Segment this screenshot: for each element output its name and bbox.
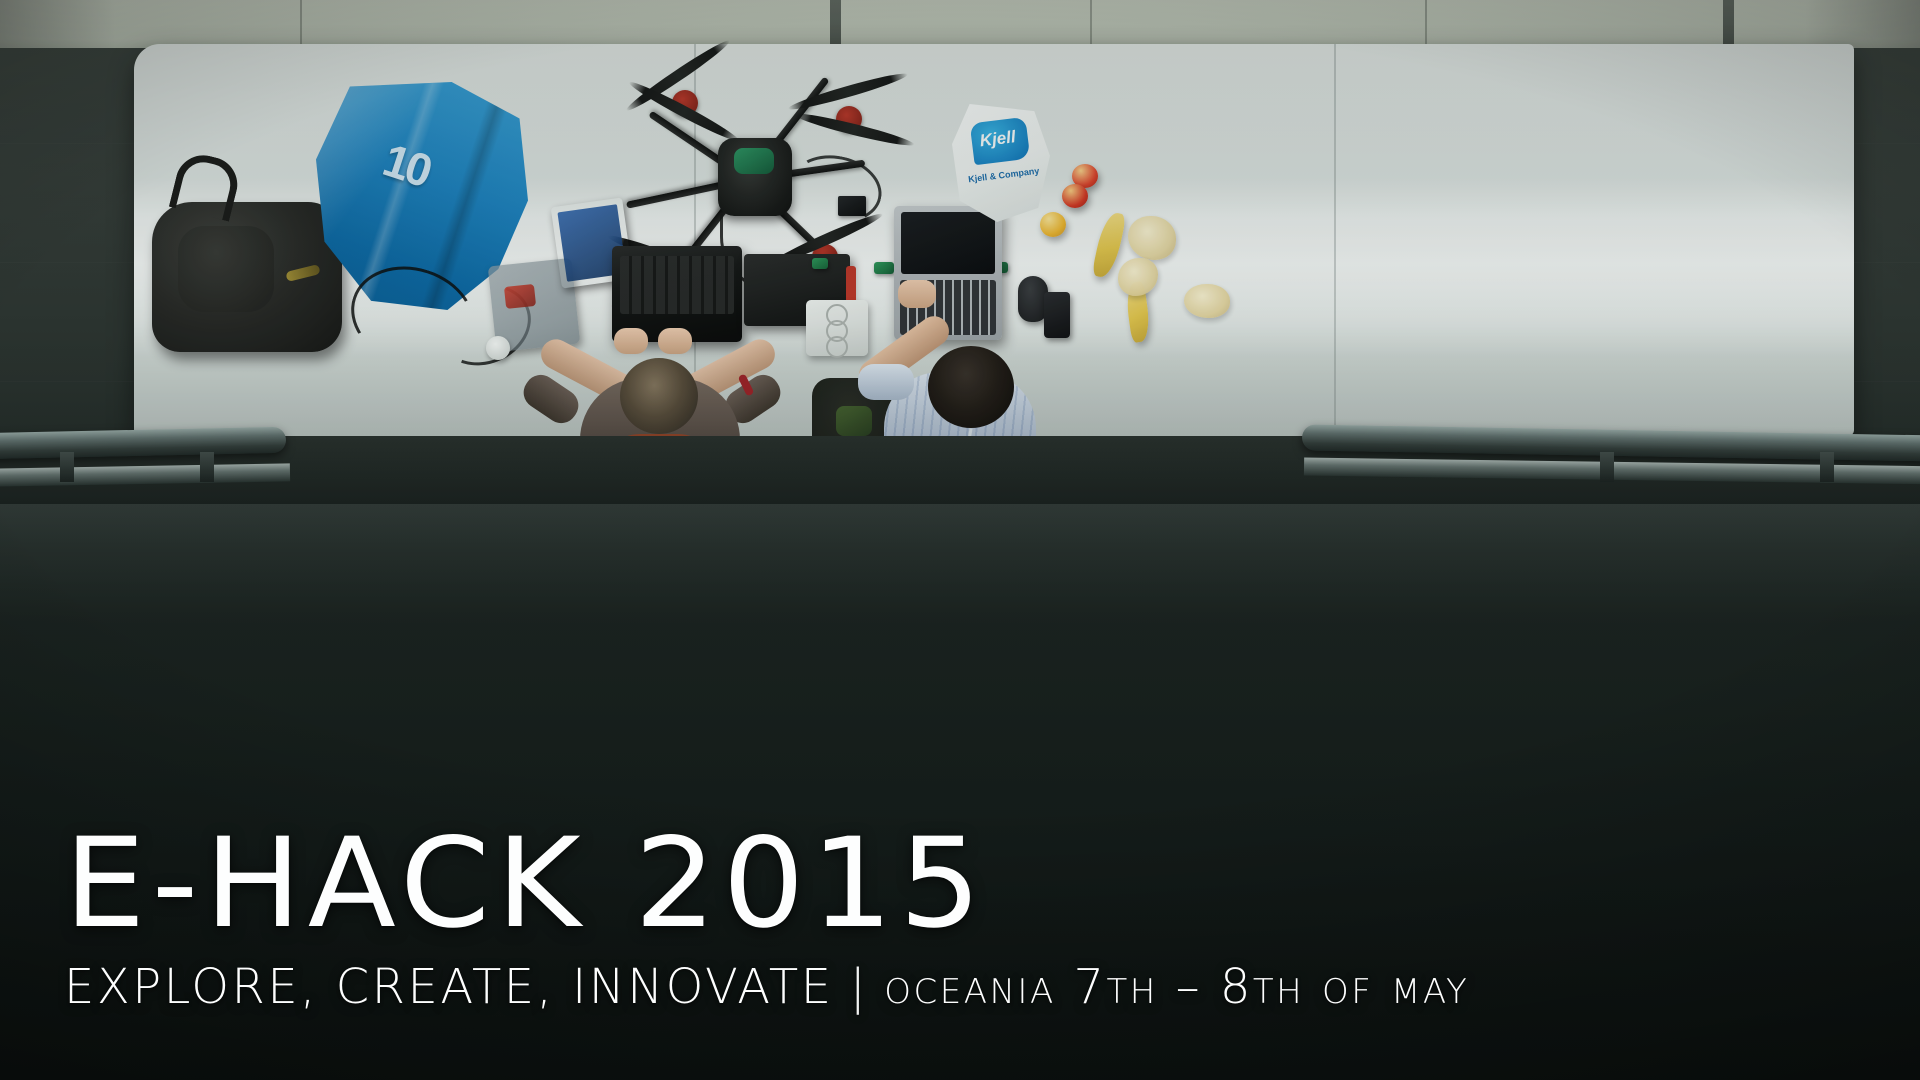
head [928, 346, 1014, 428]
drone-body [718, 138, 792, 216]
white-bag-logo-text: Kjell [979, 127, 1017, 151]
pcb-module [812, 258, 828, 269]
hand [658, 328, 692, 354]
backpack [152, 202, 342, 352]
page-title: E-HACK 2015 [64, 822, 1920, 946]
socket [826, 336, 848, 358]
rail-post [1600, 452, 1614, 482]
macbook-screen [901, 212, 995, 274]
head [620, 358, 698, 434]
hand [614, 328, 648, 354]
poster-subtitle: Explore, create, innovate|Oceania 7th – … [64, 962, 1864, 1012]
rail-post [60, 452, 74, 482]
hand [898, 280, 936, 308]
orange [1040, 212, 1066, 237]
coffee-cup [486, 336, 510, 360]
pcb-module [874, 262, 894, 274]
subtitle-tagline: Explore, create, innovate [64, 959, 834, 1015]
sleeve [858, 364, 914, 400]
kjell-logo: Kjell [970, 117, 1031, 166]
subtitle-event: Oceania 7th – 8th of May [884, 959, 1469, 1015]
subtitle-divider: | [834, 962, 885, 1012]
table-seam [1334, 44, 1336, 436]
white-bag-tagline: Kjell & Company [968, 166, 1040, 185]
banana-peel [1184, 284, 1230, 318]
pcb-module [838, 196, 866, 216]
poster-text-block: E-HACK 2015 Explore, create, innovate|Oc… [64, 822, 1864, 1012]
rail-post [1820, 452, 1834, 482]
apple [1062, 184, 1088, 208]
rail-post [200, 452, 214, 482]
poster-root: 10 [0, 0, 1920, 1080]
white-bag: Kjell Kjell & Company [952, 104, 1050, 222]
